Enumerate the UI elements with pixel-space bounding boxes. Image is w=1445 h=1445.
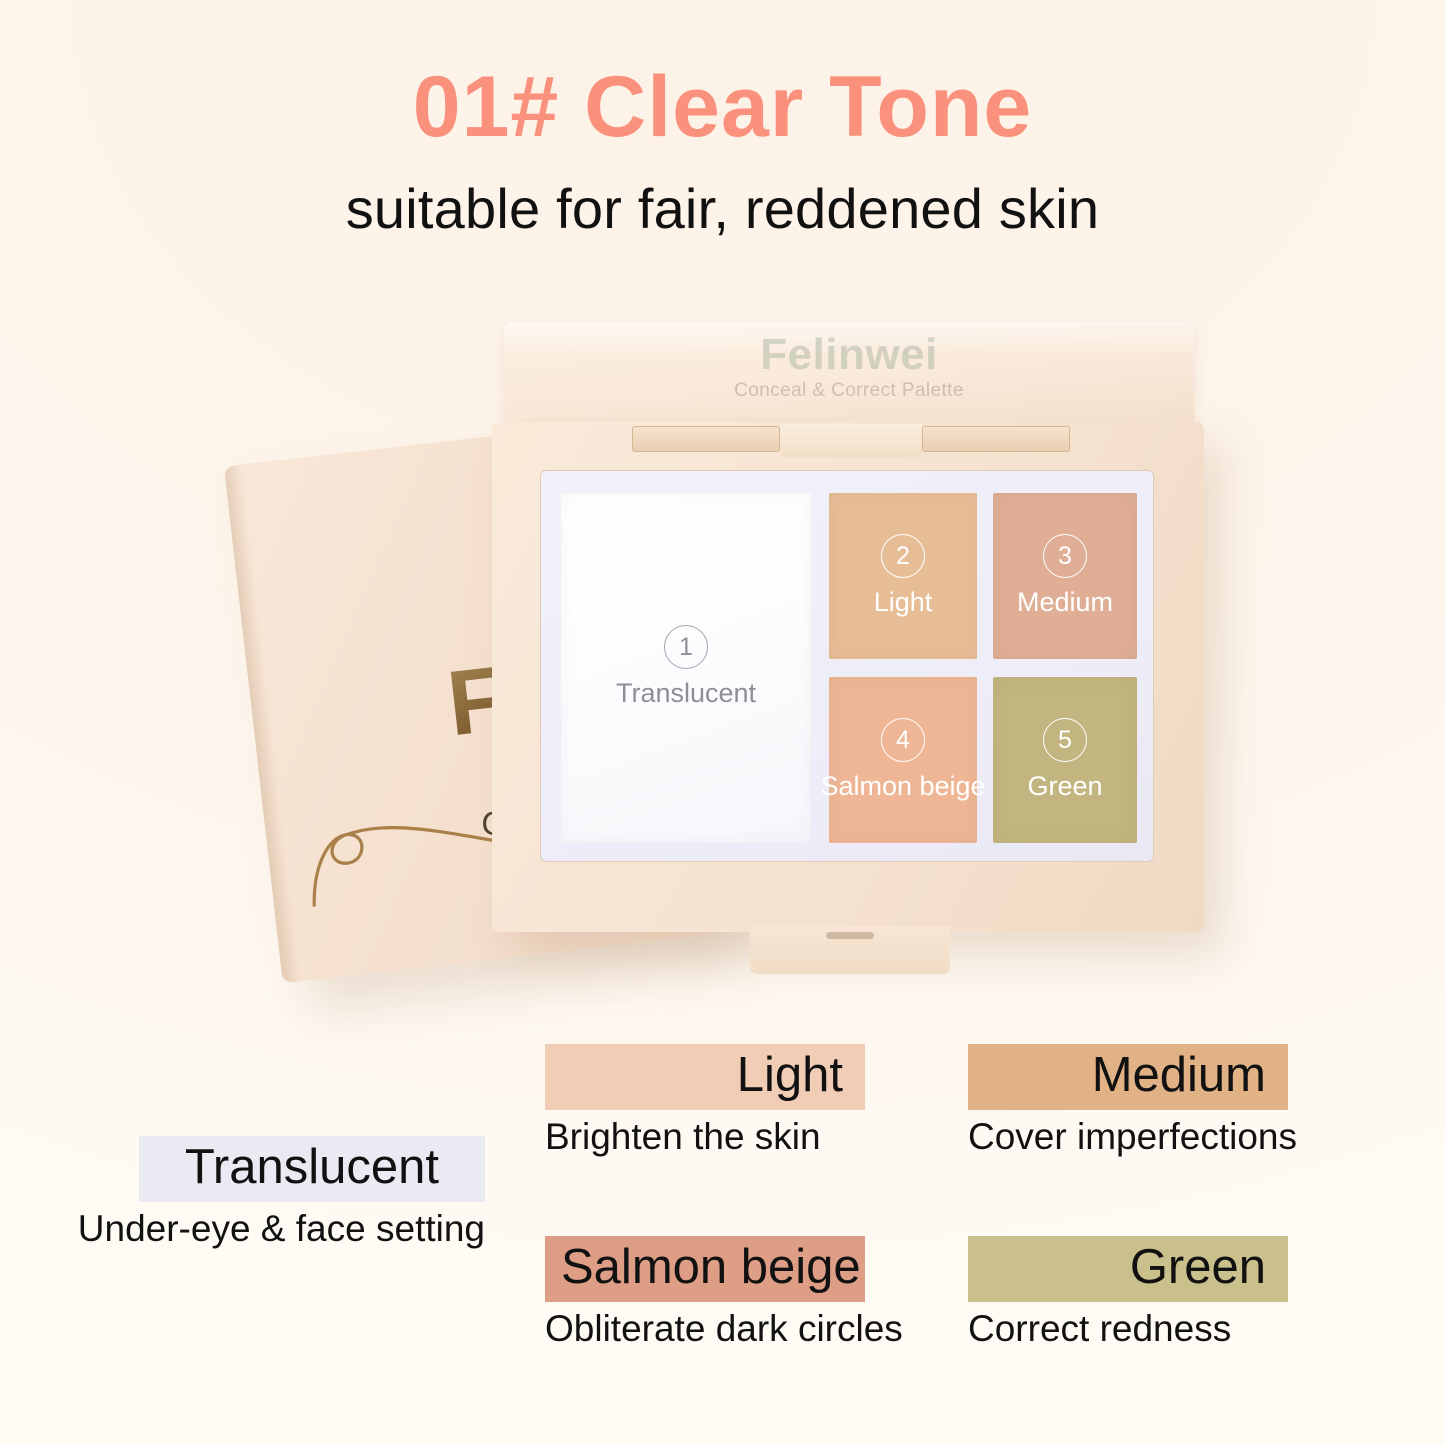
legend-label-light: Light: [545, 1044, 865, 1110]
legend-item-salmon-beige: Salmon beige Obliterate dark circles: [545, 1236, 865, 1350]
pan-number-badge: 3: [1043, 534, 1087, 578]
product-photo: Fe Conceal & Corr Felinwei Conceal & Cor…: [0, 300, 1445, 1010]
pan-green[interactable]: 5 Green: [993, 677, 1137, 843]
pan-number-badge: 4: [881, 718, 925, 762]
lid-brand-text: Felinwei: [504, 330, 1194, 380]
hinge-center: [780, 424, 922, 458]
compact-latch-notch: [750, 926, 950, 974]
pan-name-label: Green: [1027, 771, 1102, 802]
legend-label-green: Green: [968, 1236, 1288, 1302]
compact-base: 1 Translucent 2 Light 3 Medium 4: [492, 422, 1204, 932]
legend-desc-green: Correct redness: [968, 1309, 1288, 1350]
lid-subtitle-text: Conceal & Correct Palette: [504, 380, 1194, 402]
hinge-left: [632, 426, 780, 452]
pan-light[interactable]: 2 Light: [829, 493, 977, 659]
pan-number-badge: 5: [1043, 718, 1087, 762]
legend-desc-salmon-beige: Obliterate dark circles: [545, 1309, 865, 1350]
header: 01# Clear Tone suitable for fair, redden…: [0, 62, 1445, 240]
legend-label-salmon-beige: Salmon beige: [545, 1236, 865, 1302]
page-subtitle: suitable for fair, reddened skin: [0, 178, 1445, 240]
legend-item-green: Green Correct redness: [968, 1236, 1288, 1350]
legend-desc-translucent: Under-eye & face setting: [0, 1209, 485, 1250]
pan-name-label: Medium: [1017, 587, 1113, 618]
pan-salmon-beige[interactable]: 4 Salmon beige: [829, 677, 977, 843]
legend-desc-light: Brighten the skin: [545, 1117, 865, 1158]
page-title: 01# Clear Tone: [0, 62, 1445, 152]
pan-translucent[interactable]: 1 Translucent: [561, 493, 811, 843]
pan-number-badge: 2: [881, 534, 925, 578]
legend-item-light: Light Brighten the skin: [545, 1044, 865, 1158]
pan-name-label: Translucent: [616, 678, 756, 709]
pan-name-label: Light: [874, 587, 933, 618]
pan-tray: 1 Translucent 2 Light 3 Medium 4: [540, 470, 1154, 862]
open-compact-case: Felinwei Conceal & Correct Palette 1 Tra…: [492, 322, 1204, 952]
pan-number-badge: 1: [664, 625, 708, 669]
hinge-right: [922, 426, 1070, 452]
pan-medium[interactable]: 3 Medium: [993, 493, 1137, 659]
product-marketing-image: 01# Clear Tone suitable for fair, redden…: [0, 0, 1445, 1445]
compact-lid: Felinwei Conceal & Correct Palette: [504, 322, 1194, 434]
legend-item-medium: Medium Cover imperfections: [968, 1044, 1288, 1158]
legend-desc-medium: Cover imperfections: [968, 1117, 1288, 1158]
pan-grid: 1 Translucent 2 Light 3 Medium 4: [561, 493, 1137, 843]
shade-legend: Translucent Under-eye & face setting Lig…: [0, 1032, 1445, 1412]
pan-name-label: Salmon beige: [820, 771, 985, 802]
legend-label-translucent: Translucent: [139, 1136, 485, 1202]
legend-label-medium: Medium: [968, 1044, 1288, 1110]
legend-item-translucent: Translucent Under-eye & face setting: [0, 1136, 485, 1250]
